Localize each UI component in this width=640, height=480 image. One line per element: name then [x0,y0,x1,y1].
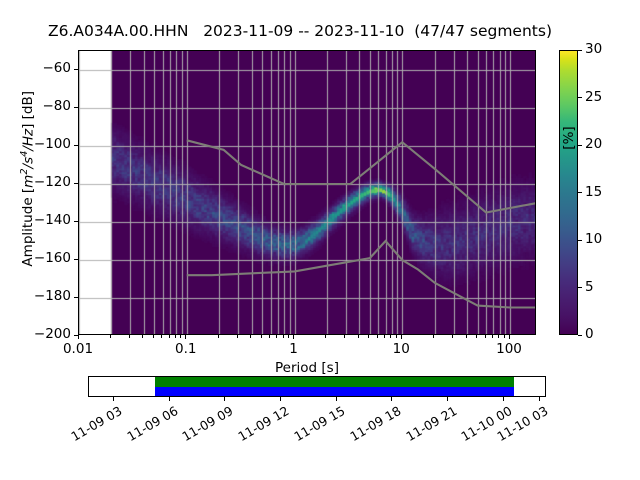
colorbar-tick-label: 25 [585,89,602,105]
x-minor-tick-mark [180,335,181,338]
x-tick-mark [509,335,510,339]
x-minor-tick-mark [110,335,111,338]
y-tick-label: −180 [16,288,71,304]
x-minor-tick-mark [161,335,162,338]
x-tick-label: 1 [254,341,334,357]
colorbar-tick-mark [578,50,582,51]
x-minor-tick-mark [504,335,505,338]
x-minor-tick-mark [169,335,170,338]
timeline-tick-mark [224,397,225,401]
y-tick-label: −80 [16,98,71,114]
x-tick-label: 100 [469,341,549,357]
timeline-tick-mark [503,397,504,401]
y-tick-mark [74,69,78,70]
colorbar-tick-label: 5 [585,279,594,295]
colorbar-tick-label: 10 [585,231,602,247]
x-minor-tick-mark [498,335,499,338]
ppsd-figure: Z6.A034A.00.HHN 2023-11-09 -- 2023-11-10… [0,0,640,480]
x-tick-mark [185,335,186,339]
x-tick-label: 0.01 [38,341,118,357]
y-tick-mark [74,107,78,108]
x-minor-tick-mark [433,335,434,338]
plot-title: Z6.A034A.00.HHN 2023-11-09 -- 2023-11-10… [0,22,600,40]
x-minor-tick-mark [358,335,359,338]
x-tick-mark [401,335,402,339]
colorbar-tick-mark [578,287,582,288]
timeline-tick-label: 11-09 18 [338,403,403,449]
data-coverage-timeline[interactable] [88,376,546,397]
x-tick-label: 10 [361,341,441,357]
timeline-tick-label: 11-09 12 [227,403,292,449]
x-minor-tick-mark [344,335,345,338]
colorbar-tick-label: 20 [585,136,602,152]
timeline-tick-label: 11-09 09 [171,403,236,449]
colorbar-tick-label: 0 [585,326,594,342]
x-minor-tick-mark [261,335,262,338]
x-tick-mark [78,335,79,339]
x-minor-tick-mark [390,335,391,338]
coverage-band-green [155,377,514,387]
x-minor-tick-mark [476,335,477,338]
nlnm-curve [187,241,536,308]
x-minor-tick-mark [142,335,143,338]
nhnm-curve [187,140,536,212]
x-minor-tick-mark [276,335,277,338]
colorbar-tick-mark [578,335,582,336]
timeline-tick-mark [539,397,540,401]
timeline-tick-mark [169,397,170,401]
y-tick-mark [74,145,78,146]
x-tick-mark [293,335,294,339]
x-axis-label: Period [s] [78,360,536,376]
y-tick-label: −120 [16,174,71,190]
timeline-tick-label: 11-09 06 [116,403,181,449]
ylabel-unit-s: /s [20,157,36,169]
timeline-tick-mark [280,397,281,401]
x-minor-tick-mark [466,335,467,338]
x-minor-tick-mark [237,335,238,338]
x-minor-tick-mark [218,335,219,338]
y-tick-mark [74,297,78,298]
x-tick-label: 0.1 [146,341,226,357]
x-minor-tick-mark [377,335,378,338]
colorbar-tick-mark [578,192,582,193]
timeline-tick-mark [447,397,448,401]
x-minor-tick-mark [485,335,486,338]
x-minor-tick-mark [368,335,369,338]
peterson-noise-model-curves [79,51,536,335]
colorbar-tick-label: 15 [585,184,602,200]
timeline-tick-label: 11-09 03 [60,403,125,449]
y-tick-label: −200 [16,326,71,342]
y-tick-label: −140 [16,212,71,228]
x-minor-tick-mark [452,335,453,338]
x-minor-tick-mark [129,335,130,338]
x-minor-tick-mark [492,335,493,338]
colorbar[interactable] [559,50,578,335]
colorbar-label: [%] [561,98,577,178]
x-minor-tick-mark [269,335,270,338]
timeline-tick-mark [336,397,337,401]
colorbar-tick-mark [578,240,582,241]
timeline-tick-label: 11-09 21 [394,403,459,449]
x-minor-tick-mark [175,335,176,338]
timeline-tick-mark [113,397,114,401]
colorbar-tick-mark [578,97,582,98]
coverage-band-blue [155,387,514,397]
x-minor-tick-mark [283,335,284,338]
timeline-tick-mark [391,397,392,401]
y-tick-label: −60 [16,60,71,76]
x-minor-tick-mark [384,335,385,338]
x-minor-tick-mark [325,335,326,338]
x-minor-tick-mark [153,335,154,338]
y-tick-label: −160 [16,250,71,266]
ppsd-axes[interactable] [78,50,536,335]
y-tick-mark [74,259,78,260]
x-minor-tick-mark [396,335,397,338]
colorbar-tick-mark [578,145,582,146]
y-tick-mark [74,221,78,222]
x-minor-tick-mark [250,335,251,338]
y-tick-label: −100 [16,136,71,152]
x-minor-tick-mark [288,335,289,338]
y-tick-mark [74,183,78,184]
colorbar-tick-label: 30 [585,41,602,57]
timeline-tick-label: 11-09 15 [283,403,348,449]
